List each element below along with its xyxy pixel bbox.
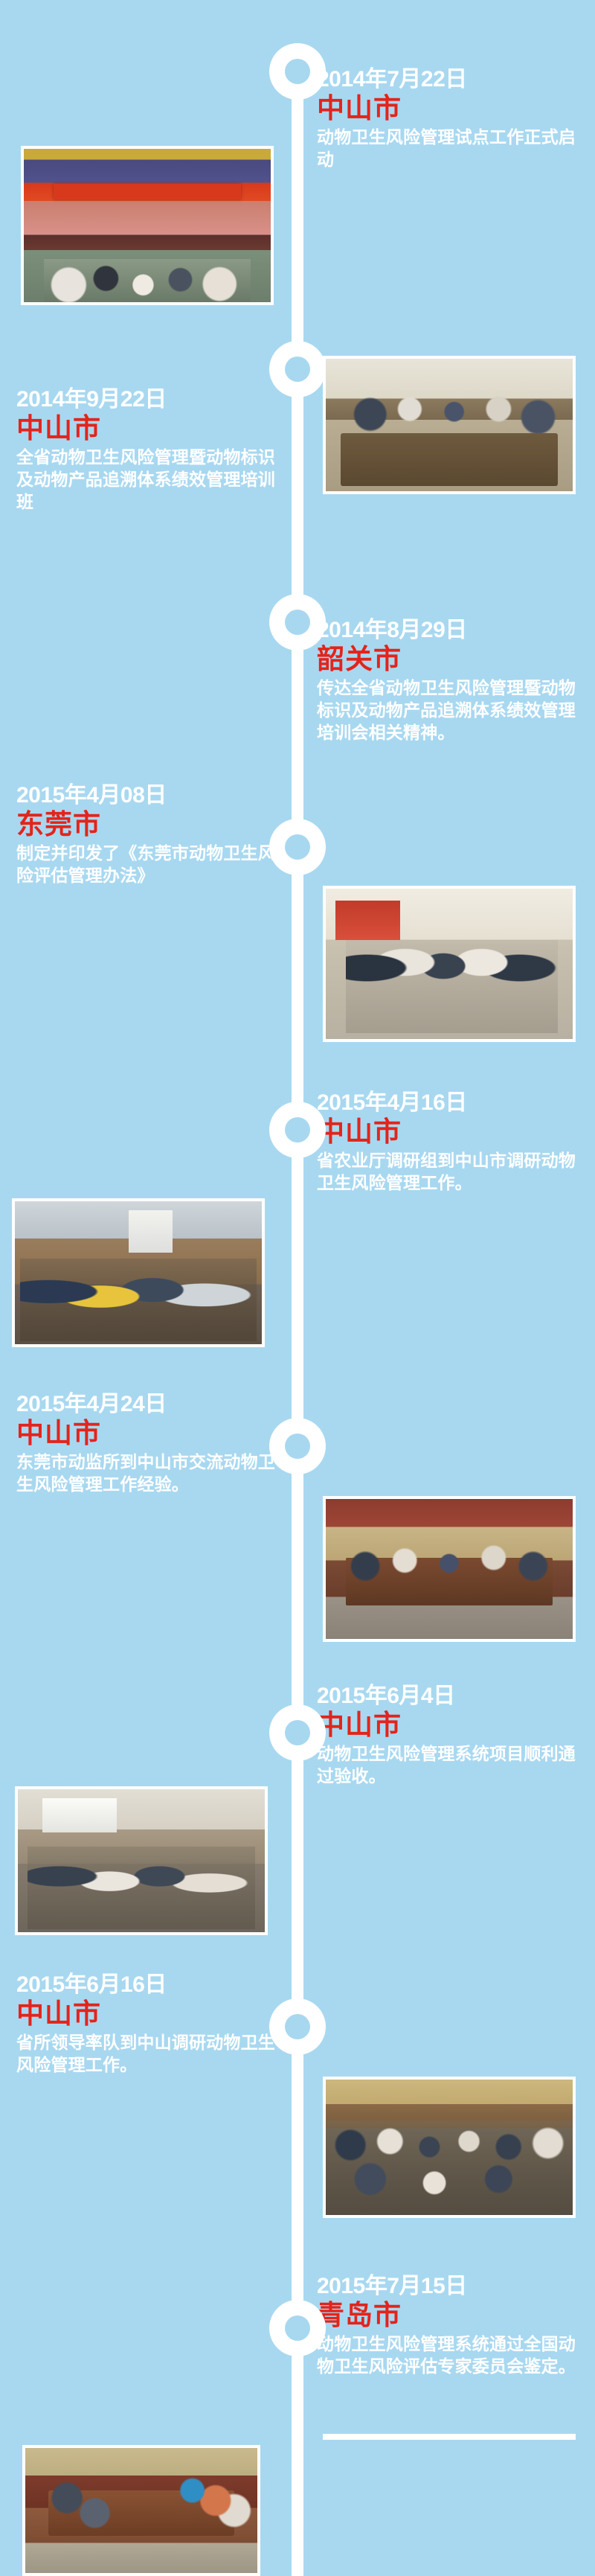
entry-6-date: 2015年4月24日: [16, 1392, 278, 1417]
entry-4-description: 制定并印发了《东莞市动物卫生风险评估管理办法》: [16, 843, 278, 887]
timeline-node-3[interactable]: [269, 594, 326, 651]
timeline-entry-1: 2014年7月22日 中山市 动物卫生风险管理试点工作正式启动: [306, 67, 589, 171]
entry-2-city: 中山市: [16, 413, 278, 445]
entry-1-description: 动物卫生风险管理试点工作正式启动: [317, 127, 579, 171]
entry-8-description: 省所领导率队到中山调研动物卫生风险管理工作。: [16, 2032, 278, 2077]
entry-3-description: 传达全省动物卫生风险管理暨动物标识及动物产品追溯体系绩效管理培训会相关精神。: [317, 677, 579, 744]
entry-9-text: 2015年7月15日 青岛市 动物卫生风险管理系统通过全国动物卫生风险评估专家委…: [306, 2274, 589, 2378]
timeline-node-4[interactable]: [269, 819, 326, 875]
timeline-node-9[interactable]: [269, 2300, 326, 2356]
timeline-entry-5: 2015年4月16日 中山市 省农业厅调研组到中山市调研动物卫生风险管理工作。: [306, 1090, 589, 1195]
entry-6-description: 东莞市动监所到中山市交流动物卫生风险管理工作经验。: [16, 1451, 278, 1496]
entry-4-city: 东莞市: [16, 809, 278, 841]
audience-hall-scene: [326, 2080, 573, 2215]
standing-inspection-scene: [326, 889, 573, 1039]
timeline-entry-6: 2015年4月24日 中山市 东莞市动监所到中山市交流动物卫生风险管理工作经验。: [6, 1392, 289, 1496]
entry-4-date: 2015年4月08日: [16, 783, 278, 808]
entry-9-description: 动物卫生风险管理系统通过全国动物卫生风险评估专家委员会鉴定。: [317, 2333, 579, 2378]
timeline-photo-6: [15, 1786, 268, 1935]
entry-7-date: 2015年6月4日: [317, 1684, 579, 1709]
timeline-photo-2: [323, 356, 576, 494]
entry-5-date: 2015年4月16日: [317, 1090, 579, 1116]
entry-8-date: 2015年6月16日: [16, 1972, 278, 1998]
entry-2-description: 全省动物卫生风险管理暨动物标识及动物产品追溯体系绩效管理培训班: [16, 447, 278, 514]
conference-room-scene: [326, 1499, 573, 1639]
entry-4-text: 2015年4月08日 东莞市 制定并印发了《东莞市动物卫生风险评估管理办法》: [6, 783, 289, 887]
entry-1-date: 2014年7月22日: [317, 67, 579, 92]
timeline-entry-4: 2015年4月08日 东莞市 制定并印发了《东莞市动物卫生风险评估管理办法》: [6, 783, 289, 887]
timeline-node-8[interactable]: [269, 1998, 326, 2055]
timeline-entry-9: 2015年7月15日 青岛市 动物卫生风险管理系统通过全国动物卫生风险评估专家委…: [306, 2274, 589, 2378]
timeline-photo-3: [323, 886, 576, 1042]
timeline-photo-5: [323, 1496, 576, 1642]
field-demo-scene: [15, 1201, 262, 1344]
timeline-entry-3: 2014年8月29日 韶关市 传达全省动物卫生风险管理暨动物标识及动物产品追溯体…: [306, 618, 589, 744]
entry-7-description: 动物卫生风险管理系统项目顺利通过验收。: [317, 1743, 579, 1788]
entry-6-city: 中山市: [16, 1418, 278, 1450]
timeline-photo-4: [12, 1198, 265, 1347]
entry-6-text: 2015年4月24日 中山市 东莞市动监所到中山市交流动物卫生风险管理工作经验。: [6, 1392, 289, 1496]
timeline-photo-1: [21, 146, 274, 305]
timeline-node-1[interactable]: [269, 43, 326, 100]
timeline-entry-7: 2015年6月4日 中山市 动物卫生风险管理系统项目顺利通过验收。: [306, 1684, 589, 1788]
entry-8-text: 2015年6月16日 中山市 省所领导率队到中山调研动物卫生风险管理工作。: [6, 1972, 289, 2077]
entry-7-city: 中山市: [317, 1710, 579, 1742]
timeline-entry-2: 2014年9月22日 中山市 全省动物卫生风险管理暨动物标识及动物产品追溯体系绩…: [6, 387, 289, 514]
timeline-node-5[interactable]: [269, 1102, 326, 1158]
entry-5-description: 省农业厅调研组到中山市调研动物卫生风险管理工作。: [317, 1150, 579, 1195]
timeline-entry-8: 2015年6月16日 中山市 省所领导率队到中山调研动物卫生风险管理工作。: [6, 1972, 289, 2077]
timeline-node-6[interactable]: [269, 1418, 326, 1474]
timeline-photo-8-spacer: [323, 2434, 576, 2440]
timeline-node-2[interactable]: [269, 341, 326, 397]
entry-3-date: 2014年8月29日: [317, 618, 579, 643]
timeline-photo-9: [22, 2445, 260, 2576]
entry-8-city: 中山市: [16, 1998, 278, 2030]
entry-2-text: 2014年9月22日 中山市 全省动物卫生风险管理暨动物标识及动物产品追溯体系绩…: [6, 387, 289, 514]
entry-3-city: 韶关市: [317, 644, 579, 676]
entry-7-text: 2015年6月4日 中山市 动物卫生风险管理系统项目顺利通过验收。: [306, 1684, 589, 1788]
entry-5-city: 中山市: [317, 1116, 579, 1148]
entry-1-city: 中山市: [317, 93, 579, 125]
training-room-scene: [18, 1789, 265, 1932]
entry-2-date: 2014年9月22日: [16, 387, 278, 412]
entry-5-text: 2015年4月16日 中山市 省农业厅调研组到中山市调研动物卫生风险管理工作。: [306, 1090, 589, 1195]
timeline-infographic: 2014年7月22日 中山市 动物卫生风险管理试点工作正式启动 2014年9月2…: [0, 0, 595, 2576]
conference-hall-scene: [24, 149, 271, 302]
timeline-node-7[interactable]: [269, 1704, 326, 1761]
entry-9-date: 2015年7月15日: [317, 2274, 579, 2299]
entry-1-text: 2014年7月22日 中山市 动物卫生风险管理试点工作正式启动: [306, 67, 589, 171]
timeline-spine: [292, 45, 303, 2576]
entry-9-city: 青岛市: [317, 2300, 579, 2332]
meeting-room-scene: [326, 359, 573, 491]
entry-3-text: 2014年8月29日 韶关市 传达全省动物卫生风险管理暨动物标识及动物产品追溯体…: [306, 618, 589, 744]
narrow-table-scene: [25, 2448, 257, 2573]
timeline-photo-7: [323, 2077, 576, 2218]
